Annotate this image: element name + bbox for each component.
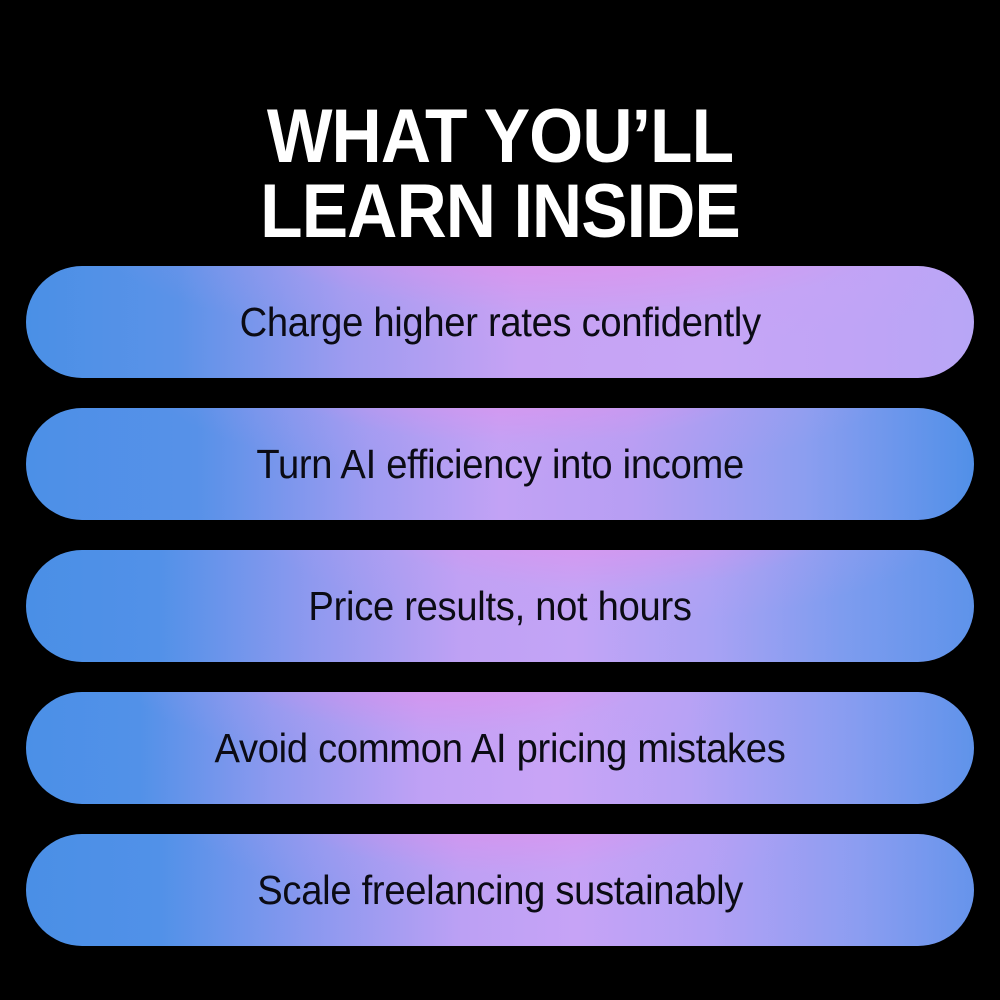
list-item-label: Avoid common AI pricing mistakes — [214, 728, 785, 769]
list-item-label: Turn AI efficiency into income — [256, 444, 744, 485]
list-item-label: Charge higher rates confidently — [239, 302, 760, 343]
benefit-list: Charge higher rates confidently Turn AI … — [26, 266, 974, 946]
list-item[interactable]: Avoid common AI pricing mistakes — [26, 692, 974, 804]
list-item[interactable]: Scale freelancing sustainably — [26, 834, 974, 946]
list-item[interactable]: Price results, not hours — [26, 550, 974, 662]
list-item[interactable]: Turn AI efficiency into income — [26, 408, 974, 520]
promo-poster: WHAT YOU’LL LEARN INSIDE Charge higher r… — [0, 0, 1000, 1000]
list-item[interactable]: Charge higher rates confidently — [26, 266, 974, 378]
list-item-label: Price results, not hours — [308, 586, 691, 627]
list-item-label: Scale freelancing sustainably — [257, 870, 743, 911]
page-title: WHAT YOU’LL LEARN INSIDE — [43, 99, 958, 249]
